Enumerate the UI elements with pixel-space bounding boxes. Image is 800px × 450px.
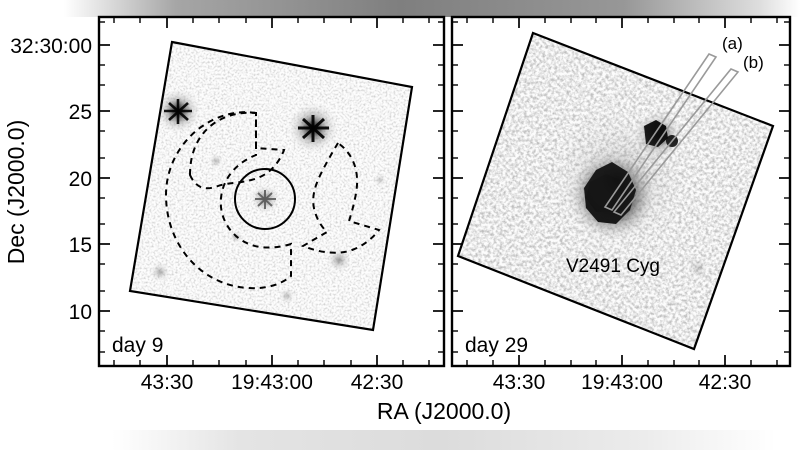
y-ticklabel-1: 25 [69,101,92,124]
y-ticklabel-2: 20 [69,168,92,191]
x-ticklabel-right-2: 42:30 [699,371,752,394]
y-ticklabel-4: 10 [69,301,92,324]
x-ticklabel-left-2: 42:30 [351,371,404,394]
x-ticklabel-left-0: 43:30 [141,371,194,394]
x-axis-title: RA (J2000.0) [377,398,511,424]
y-axis-title: Dec (J2000.0) [3,120,29,264]
x-ticklabel-left-1: 19:43:00 [231,371,313,394]
x-ticklabel-right-1: 19:43:00 [581,371,663,394]
x-axis-major-ticks-right [519,355,725,366]
x-axis-major-ticks-right-top [519,17,725,28]
xray-image-day-29 [450,25,780,355]
panel-day-9: 32:30:00 25 20 15 10 43:30 19:43:00 42:3… [3,17,444,394]
x-axis-major-ticks-left-top [167,17,377,28]
x-axis-major-ticks-left [167,355,377,366]
object-label-v2491-cyg: V2491 Cyg [566,256,660,277]
y-ticklabel-3: 15 [69,234,92,257]
panel-day-29: (a) (b) V2491 Cyg [450,17,790,394]
astronomy-figure: 32:30:00 25 20 15 10 43:30 19:43:00 42:3… [0,0,800,450]
panel-label-day-9: day 9 [112,334,163,357]
y-ticklabel-0: 32:30:00 [10,35,92,58]
slit-label-a: (a) [722,34,743,53]
figure-root: 32:30:00 25 20 15 10 43:30 19:43:00 42:3… [0,0,800,450]
slit-label-b: (b) [743,53,764,72]
panel-label-day-29: day 29 [465,334,528,357]
x-ticklabel-right-0: 43:30 [493,371,546,394]
